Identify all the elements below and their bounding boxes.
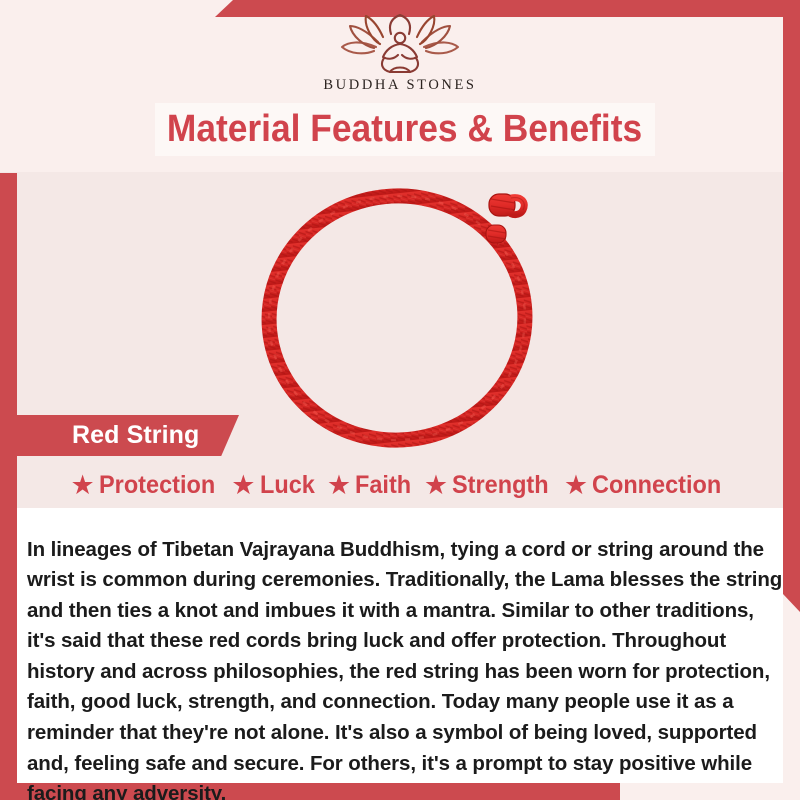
material-ribbon: Red String <box>17 415 239 456</box>
material-label: Red String <box>72 421 199 450</box>
benefit-label: Protection <box>99 471 215 500</box>
benefit-item-luck: ★ Luck <box>231 471 318 500</box>
star-icon: ★ <box>231 472 255 499</box>
description-text: In lineages of Tibetan Vajrayana Buddhis… <box>27 535 783 800</box>
star-icon: ★ <box>424 472 448 499</box>
infographic-canvas: BUDDHA STONES Material Features & Benefi… <box>0 0 800 800</box>
benefit-label: Strength <box>452 471 549 500</box>
description-panel: In lineages of Tibetan Vajrayana Buddhis… <box>17 508 783 783</box>
star-icon: ★ <box>70 472 94 499</box>
benefit-item-faith: ★ Faith <box>327 471 415 500</box>
bracelet-illustration <box>245 168 575 458</box>
benefits-row: ★ Protection ★ Luck ★ Faith ★ Strength ★… <box>0 466 800 504</box>
page-title: Material Features & Benefits <box>167 108 642 151</box>
lotus-meditation-icon <box>336 14 464 76</box>
benefit-item-strength: ★ Strength <box>424 471 555 500</box>
benefit-item-protection: ★ Protection <box>70 471 222 500</box>
benefit-label: Luck <box>260 471 315 500</box>
benefit-label: Faith <box>355 471 411 500</box>
star-icon: ★ <box>564 472 588 499</box>
product-image-red-string-bracelet <box>245 168 575 458</box>
brand-name: BUDDHA STONES <box>323 77 476 94</box>
benefit-item-connection: ★ Connection <box>564 471 730 500</box>
star-icon: ★ <box>327 472 351 499</box>
brand-logo: BUDDHA STONES <box>0 14 800 102</box>
title-banner: Material Features & Benefits <box>155 103 655 156</box>
benefit-label: Connection <box>592 471 721 500</box>
